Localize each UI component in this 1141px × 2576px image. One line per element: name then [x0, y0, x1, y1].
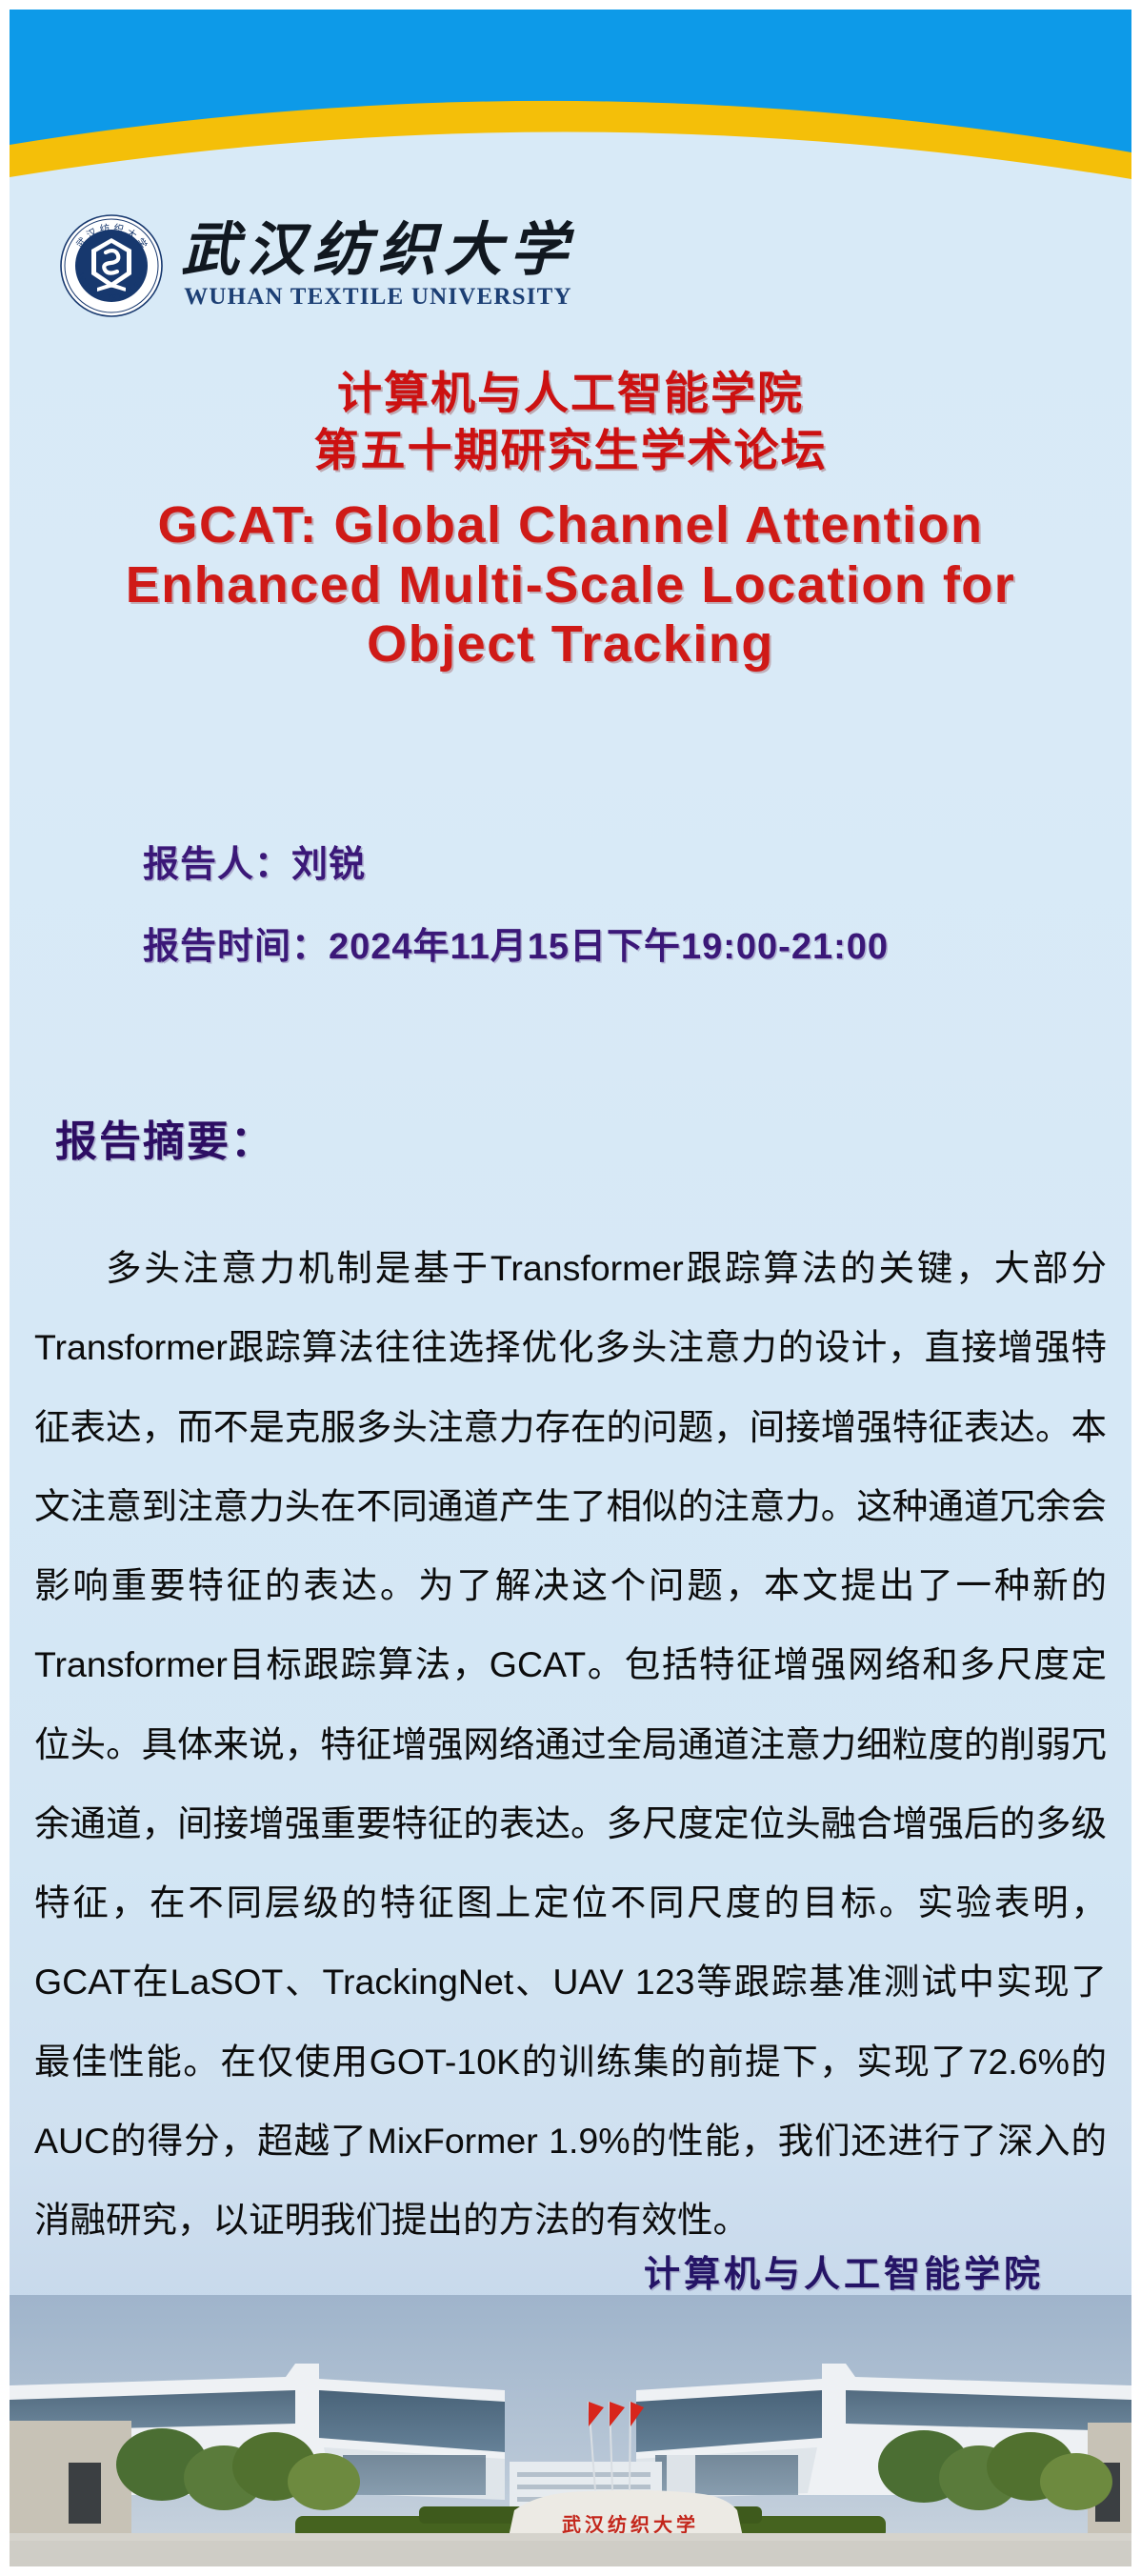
- campus-stone-text: 武汉纺织大学: [562, 2513, 699, 2536]
- campus-photo-svg: 武汉纺织大学: [10, 2295, 1131, 2566]
- footer-department: 计算机与人工智能学院: [10, 2244, 1131, 2297]
- university-name-block: 武汉纺织大学 WUHAN TEXTILE UNIVERSITY: [181, 221, 575, 311]
- heading-line-2: 第五十期研究生学术论坛: [10, 423, 1131, 477]
- university-seal-icon: 武汉纺织大学 WUHAN TEXTILE UNIVERSITY: [59, 213, 164, 318]
- abstract-heading: 报告摘要：: [55, 1107, 274, 1168]
- campus-photo: 武汉纺织大学: [10, 2295, 1131, 2566]
- university-logo-row: 武汉纺织大学 WUHAN TEXTILE UNIVERSITY 武汉纺织大学 W…: [10, 213, 1131, 318]
- university-name-cn: 武汉纺织大学: [181, 221, 575, 282]
- abstract-body: 多头注意力机制是基于Transformer跟踪算法的关键，大部分Transfor…: [34, 1229, 1107, 2260]
- poster-frame: 武汉纺织大学 WUHAN TEXTILE UNIVERSITY 武汉纺织大学 W…: [10, 10, 1131, 2566]
- university-name-en: WUHAN TEXTILE UNIVERSITY: [184, 284, 572, 311]
- heading-line-1: 计算机与人工智能学院: [10, 366, 1131, 420]
- talk-title-en: GCAT: Global Channel Attention Enhanced …: [53, 495, 1088, 674]
- seal-svg: 武汉纺织大学 WUHAN TEXTILE UNIVERSITY: [59, 213, 164, 318]
- time-line: 报告时间：2024年11月15日下午19:00-21:00: [143, 916, 889, 969]
- top-decorative-band: [10, 10, 1131, 210]
- poster-root: 武汉纺织大学 WUHAN TEXTILE UNIVERSITY 武汉纺织大学 W…: [0, 0, 1141, 2576]
- speaker-line: 报告人：刘锐: [143, 835, 366, 887]
- top-band-shape: [10, 10, 1131, 210]
